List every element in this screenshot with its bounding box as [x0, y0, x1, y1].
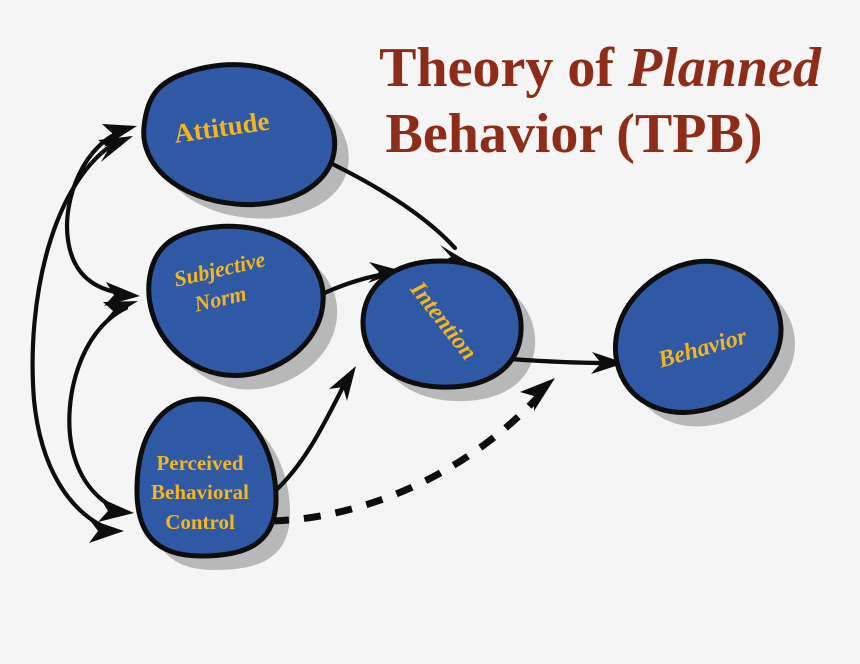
edge-attitude-pbc: [33, 141, 118, 527]
edge-pbc-behavior-dashed: [272, 397, 538, 521]
arrowhead-pbc-intention: [329, 366, 356, 401]
node-perceived-behavioral-control[interactable]: Perceived Behavioral Control: [137, 399, 276, 556]
arrowhead-sn-pbc-bottom: [98, 498, 134, 522]
diagram-title: Theory of Planned Behavior (TPB): [379, 37, 822, 165]
arrowhead-pbc-behavior: [520, 378, 555, 411]
arrowhead-attitude-pbc-bottom: [89, 519, 124, 543]
node-subjective-norm[interactable]: Subjective Norm: [149, 226, 323, 375]
title-line-2: Behavior (TPB): [386, 103, 763, 165]
node-intention[interactable]: Intention: [363, 261, 521, 387]
node-attitude[interactable]: Attitude: [144, 65, 335, 205]
edge-subjective-norm-pbc: [69, 308, 126, 512]
title-line-1-regular: Theory of: [379, 37, 628, 99]
title-line-1-italic: Planned: [627, 37, 822, 99]
pbc-label-line2: Behavioral: [151, 480, 249, 504]
tpb-diagram-svg: Attitude Subjective Norm Perceived Behav…: [0, 0, 860, 664]
pbc-label-line3: Control: [165, 510, 235, 534]
title-line-1: Theory of Planned: [379, 37, 822, 99]
pbc-label-line1: Perceived: [156, 451, 243, 475]
tpb-diagram-canvas: Attitude Subjective Norm Perceived Behav…: [0, 0, 860, 664]
